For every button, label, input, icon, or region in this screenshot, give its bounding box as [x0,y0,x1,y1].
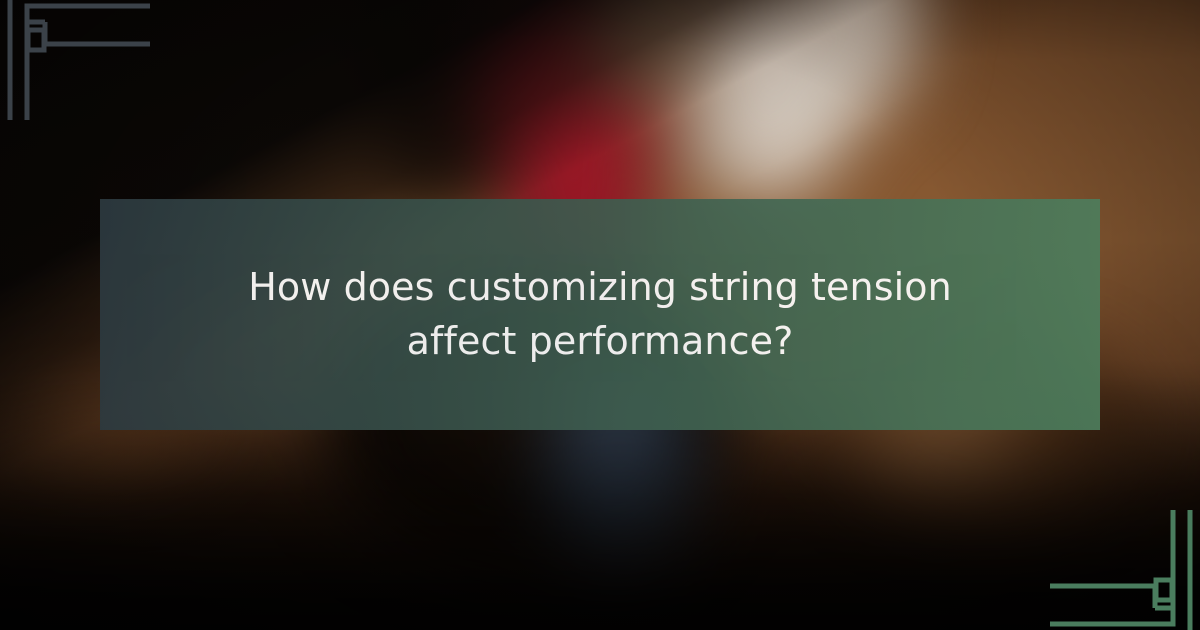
background-blob-leg [685,40,729,190]
corner-bracket-taper [120,42,150,47]
corner-ornament-top-left [0,0,150,120]
title-banner: How does customizing string tension affe… [100,199,1100,430]
corner-bracket-icon [0,0,150,120]
background-blob-pale-figure-2 [800,0,920,110]
social-card: How does customizing string tension affe… [0,0,1200,630]
corner-ornament-bottom-right [1050,510,1200,630]
background-blob-shoe [785,70,865,140]
background-blob-red-garment [460,0,660,200]
background-blob-figure-dark [370,0,510,200]
background-blob-pale-figure [700,0,850,200]
page-title: How does customizing string tension affe… [220,261,980,369]
corner-bracket-icon [1050,510,1200,630]
background-blob-skin [580,0,710,100]
